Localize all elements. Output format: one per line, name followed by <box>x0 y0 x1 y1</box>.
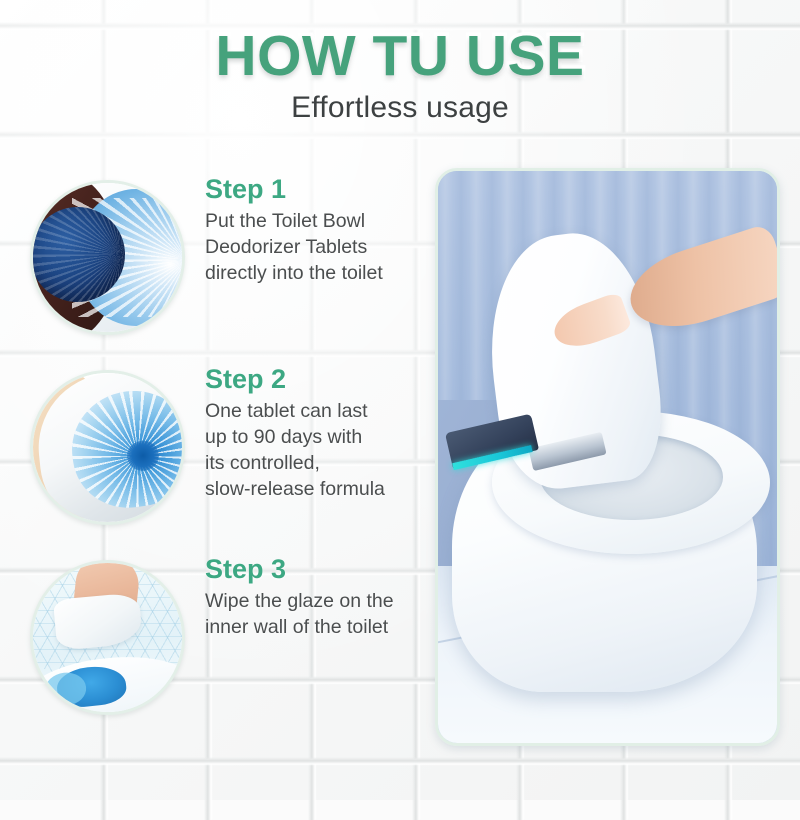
toilet-bowl-blue-water-vortex-icon <box>33 373 182 522</box>
step-3-text: Step 3 Wipe the glaze on the inner wall … <box>205 554 430 641</box>
dark-blue-disc-shape <box>30 207 125 302</box>
water-vortex-shape <box>64 383 185 515</box>
step-1-line-3: directly into the toilet <box>205 261 430 287</box>
step-1-label: Step 1 <box>205 174 430 206</box>
step-2-text: Step 2 One tablet can last up to 90 days… <box>205 364 430 503</box>
step-2-line-1: One tablet can last <box>205 399 430 425</box>
step-1-description: Put the Toilet Bowl Deodorizer Tablets d… <box>205 209 430 287</box>
toilet-bowl-dark-blue-water-swirl-icon <box>33 183 182 332</box>
step-3-line-2: inner wall of the toilet <box>205 615 430 641</box>
steps-list: Step 1 Put the Toilet Bowl Deodorizer Ta… <box>0 168 430 738</box>
step-2-line-3: its controlled, <box>205 451 430 477</box>
page-subtitle: Effortless usage <box>0 91 800 125</box>
header: HOW TU USE Effortless usage <box>0 0 800 125</box>
page-title: HOW TU USE <box>0 26 800 88</box>
step-item-2: Step 2 One tablet can last up to 90 days… <box>0 358 430 548</box>
step-item-1: Step 1 Put the Toilet Bowl Deodorizer Ta… <box>0 168 430 358</box>
step-1-thumbnail <box>30 180 185 335</box>
step-2-line-4: slow-release formula <box>205 477 430 503</box>
step-3-description: Wipe the glaze on the inner wall of the … <box>205 589 430 641</box>
product-photo <box>435 168 780 746</box>
step-2-thumbnail <box>30 370 185 525</box>
step-1-line-2: Deodorizer Tablets <box>205 235 430 261</box>
step-3-thumbnail <box>30 560 185 715</box>
hand-wiping-toilet-bowl-with-cloth-icon <box>33 563 182 712</box>
step-2-line-2: up to 90 days with <box>205 425 430 451</box>
step-1-text: Step 1 Put the Toilet Bowl Deodorizer Ta… <box>205 174 430 287</box>
step-2-description: One tablet can last up to 90 days with i… <box>205 399 430 503</box>
step-2-label: Step 2 <box>205 364 430 396</box>
step-1-line-1: Put the Toilet Bowl <box>205 209 430 235</box>
step-item-3: Step 3 Wipe the glaze on the inner wall … <box>0 548 430 738</box>
step-3-label: Step 3 <box>205 554 430 586</box>
step-3-line-1: Wipe the glaze on the <box>205 589 430 615</box>
